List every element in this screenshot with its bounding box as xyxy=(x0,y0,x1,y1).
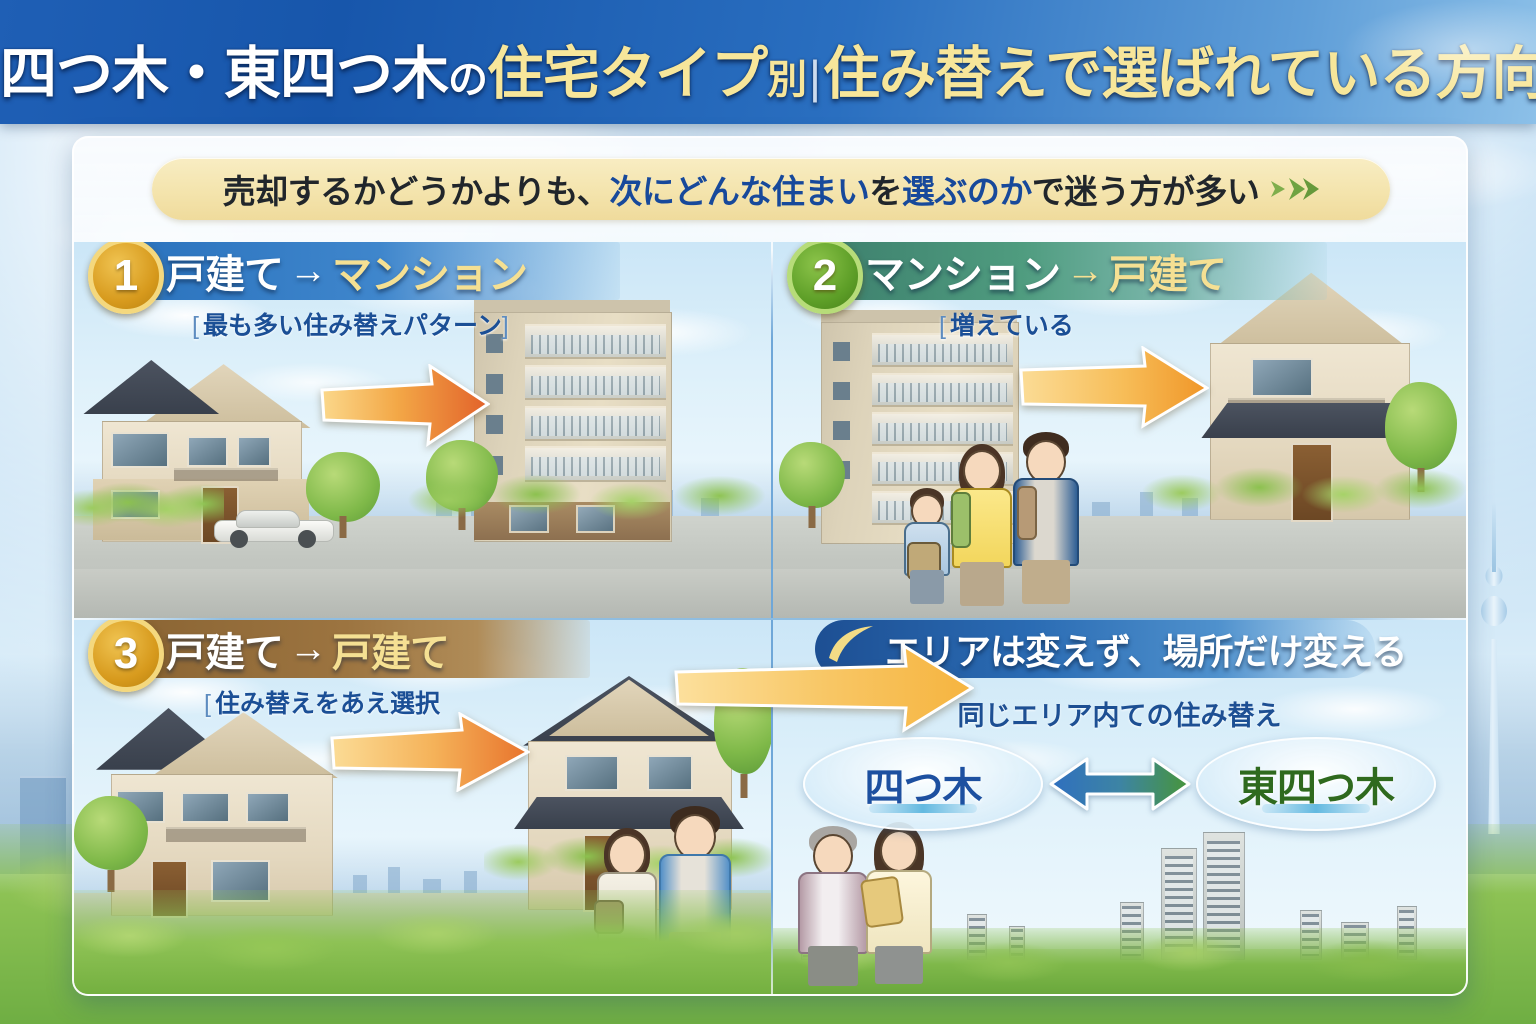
person-child xyxy=(901,488,953,604)
senior-couple-icon xyxy=(795,816,951,978)
panel-2-title-from: マンション xyxy=(865,242,1060,300)
banner-text-5: で迷う方が多い xyxy=(1032,165,1260,213)
person-senior-woman xyxy=(861,822,937,978)
title-part-5: 住み替えで選ばれている方向性 xyxy=(823,42,1536,106)
panel-3-foreground-foliage xyxy=(74,890,771,994)
title-part-4: 別 xyxy=(767,58,806,102)
page-title: 四つ木・東四つ木の住宅タイプ別|住み替えで選ばれている方向性 xyxy=(0,28,1536,110)
lead-banner: 売却するかどうかよりも、次にどんな住まいを選ぶのかで迷う方が多い xyxy=(152,158,1390,220)
panel-2-caption-text: 増えている xyxy=(950,312,1074,340)
infographic-root: 四つ木・東四つ木の住宅タイプ別|住み替えで選ばれている方向性 売却するかどうかよ… xyxy=(0,0,1536,1024)
panel-3-caption-bracket: [ xyxy=(204,690,215,718)
panel-3-caption: [住み替えをあえ選択 xyxy=(204,684,440,720)
title-part-2: の xyxy=(448,58,487,102)
panel-1-caption-bracket: [ xyxy=(192,312,203,340)
area-pill-yotsugi: 四つ木 xyxy=(803,737,1043,831)
panel-2-caption: [増えている xyxy=(939,306,1074,342)
main-card: 売却するかどうかよりも、次にどんな住まいを選ぶのかで迷う方が多い xyxy=(72,136,1468,996)
panel-2-title-arrow: → xyxy=(1060,250,1109,293)
area-underline xyxy=(869,804,977,813)
panel-3-caption-text: 住み替えをあえ選択 xyxy=(215,690,440,718)
panel-grid: 1 戸建て→マンション [最も多い住み替えパターン] xyxy=(74,242,1466,994)
panel-3-title-arrow: → xyxy=(283,628,332,671)
panel-1-title-to: マンション xyxy=(332,242,527,300)
panel-3: 3 戸建て→戸建て [住み替えをあえ選択 xyxy=(74,620,771,994)
panel-2-title: マンション→戸建て xyxy=(865,242,1226,300)
panel-1-caption-bracket-end: ] xyxy=(502,312,513,340)
cross-panel-arrow-icon xyxy=(674,642,974,734)
tree-icon xyxy=(74,796,148,892)
right-arrow-orange-icon xyxy=(1019,346,1209,430)
title-bar: 四つ木・東四つ木の住宅タイプ別|住み替えで選ばれている方向性 xyxy=(0,0,1536,124)
banner-text-3: を xyxy=(869,165,902,213)
banner-text-4: 選ぶのか xyxy=(902,165,1032,213)
area-underline xyxy=(1262,804,1370,813)
panel-1-title-from: 戸建て xyxy=(166,242,283,300)
car-icon xyxy=(214,510,332,548)
panel-1-title: 戸建て→マンション xyxy=(166,242,527,300)
bidirectional-arrow-icon xyxy=(1045,753,1195,815)
document-icon xyxy=(860,876,904,929)
right-arrow-orange-icon xyxy=(320,364,490,448)
panel-3-title-from: 戸建て xyxy=(166,620,283,678)
double-chevron-right-icon xyxy=(1269,176,1319,202)
banner-text-1: 売却するかどうかよりも、 xyxy=(223,165,610,213)
panel-2-caption-bracket: [ xyxy=(939,312,950,340)
panel-2: 2 マンション→戸建て [増えている xyxy=(773,242,1466,618)
lead-banner-text: 売却するかどうかよりも、次にどんな住まいを選ぶのかで迷う方が多い xyxy=(223,165,1320,213)
title-part-3: 住宅タイプ xyxy=(487,42,767,106)
panel-3-title-to: 戸建て xyxy=(332,620,449,678)
banner-text-2: 次にどんな住まい xyxy=(609,165,869,213)
family-three-icon xyxy=(901,428,1081,604)
person-father xyxy=(1011,432,1081,604)
area-swap-row: 四つ木 東四つ木 xyxy=(803,738,1436,830)
panel-1-caption: [最も多い住み替えパターン] xyxy=(192,306,513,342)
panel-3-title: 戸建て→戸建て xyxy=(166,620,449,678)
tokyo-skytree-icon xyxy=(1474,504,1514,834)
panel-1: 1 戸建て→マンション [最も多い住み替えパターン] xyxy=(74,242,771,618)
panel-2-title-to: 戸建て xyxy=(1109,242,1226,300)
right-arrow-orange-icon xyxy=(330,712,530,792)
area-pill-higashi-yotsugi: 東四つ木 xyxy=(1196,737,1436,831)
panel-1-title-arrow: → xyxy=(283,250,332,293)
title-part-1: 四つ木・東四つ木 xyxy=(0,42,448,106)
person-mother xyxy=(949,444,1015,604)
title-divider: | xyxy=(806,51,823,103)
person-senior-man xyxy=(795,826,871,978)
tree-icon xyxy=(779,442,845,528)
panel-1-caption-text: 最も多い住み替えパターン xyxy=(203,312,502,340)
